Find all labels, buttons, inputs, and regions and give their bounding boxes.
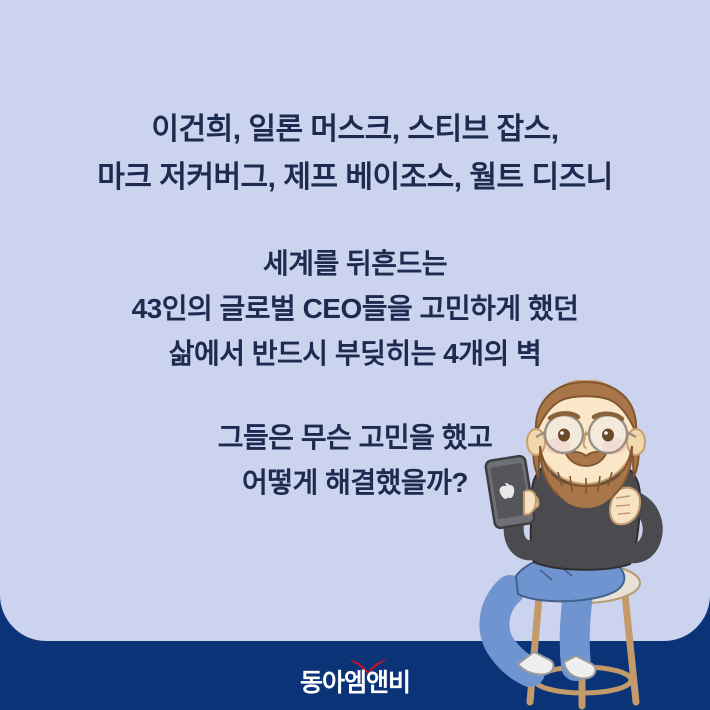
promo-card: 이건희, 일론 머스크, 스티브 잡스, 마크 저커버그, 제프 베이조스, 월… bbox=[0, 0, 710, 710]
brand-logo: 동아엠앤비 bbox=[300, 659, 410, 696]
names-line-2: 마크 저커버그, 제프 베이조스, 월트 디즈니 bbox=[0, 154, 710, 202]
brand-logo-text: 동아엠앤비 bbox=[300, 671, 410, 696]
pitch-line-1: 세계를 뒤흔드는 bbox=[0, 241, 710, 286]
pitch-line-2: 43인의 글로벌 CEO들을 고민하게 했던 bbox=[0, 286, 710, 331]
pitch-block: 세계를 뒤흔드는 43인의 글로벌 CEO들을 고민하게 했던 삶에서 반드시 … bbox=[0, 241, 710, 376]
names-line-1: 이건희, 일론 머스크, 스티브 잡스, bbox=[0, 106, 710, 154]
steve-jobs-illustration bbox=[478, 380, 710, 710]
pitch-line-3: 삶에서 반드시 부딪히는 4개의 벽 bbox=[0, 331, 710, 376]
names-block: 이건희, 일론 머스크, 스티브 잡스, 마크 저커버그, 제프 베이조스, 월… bbox=[0, 106, 710, 202]
